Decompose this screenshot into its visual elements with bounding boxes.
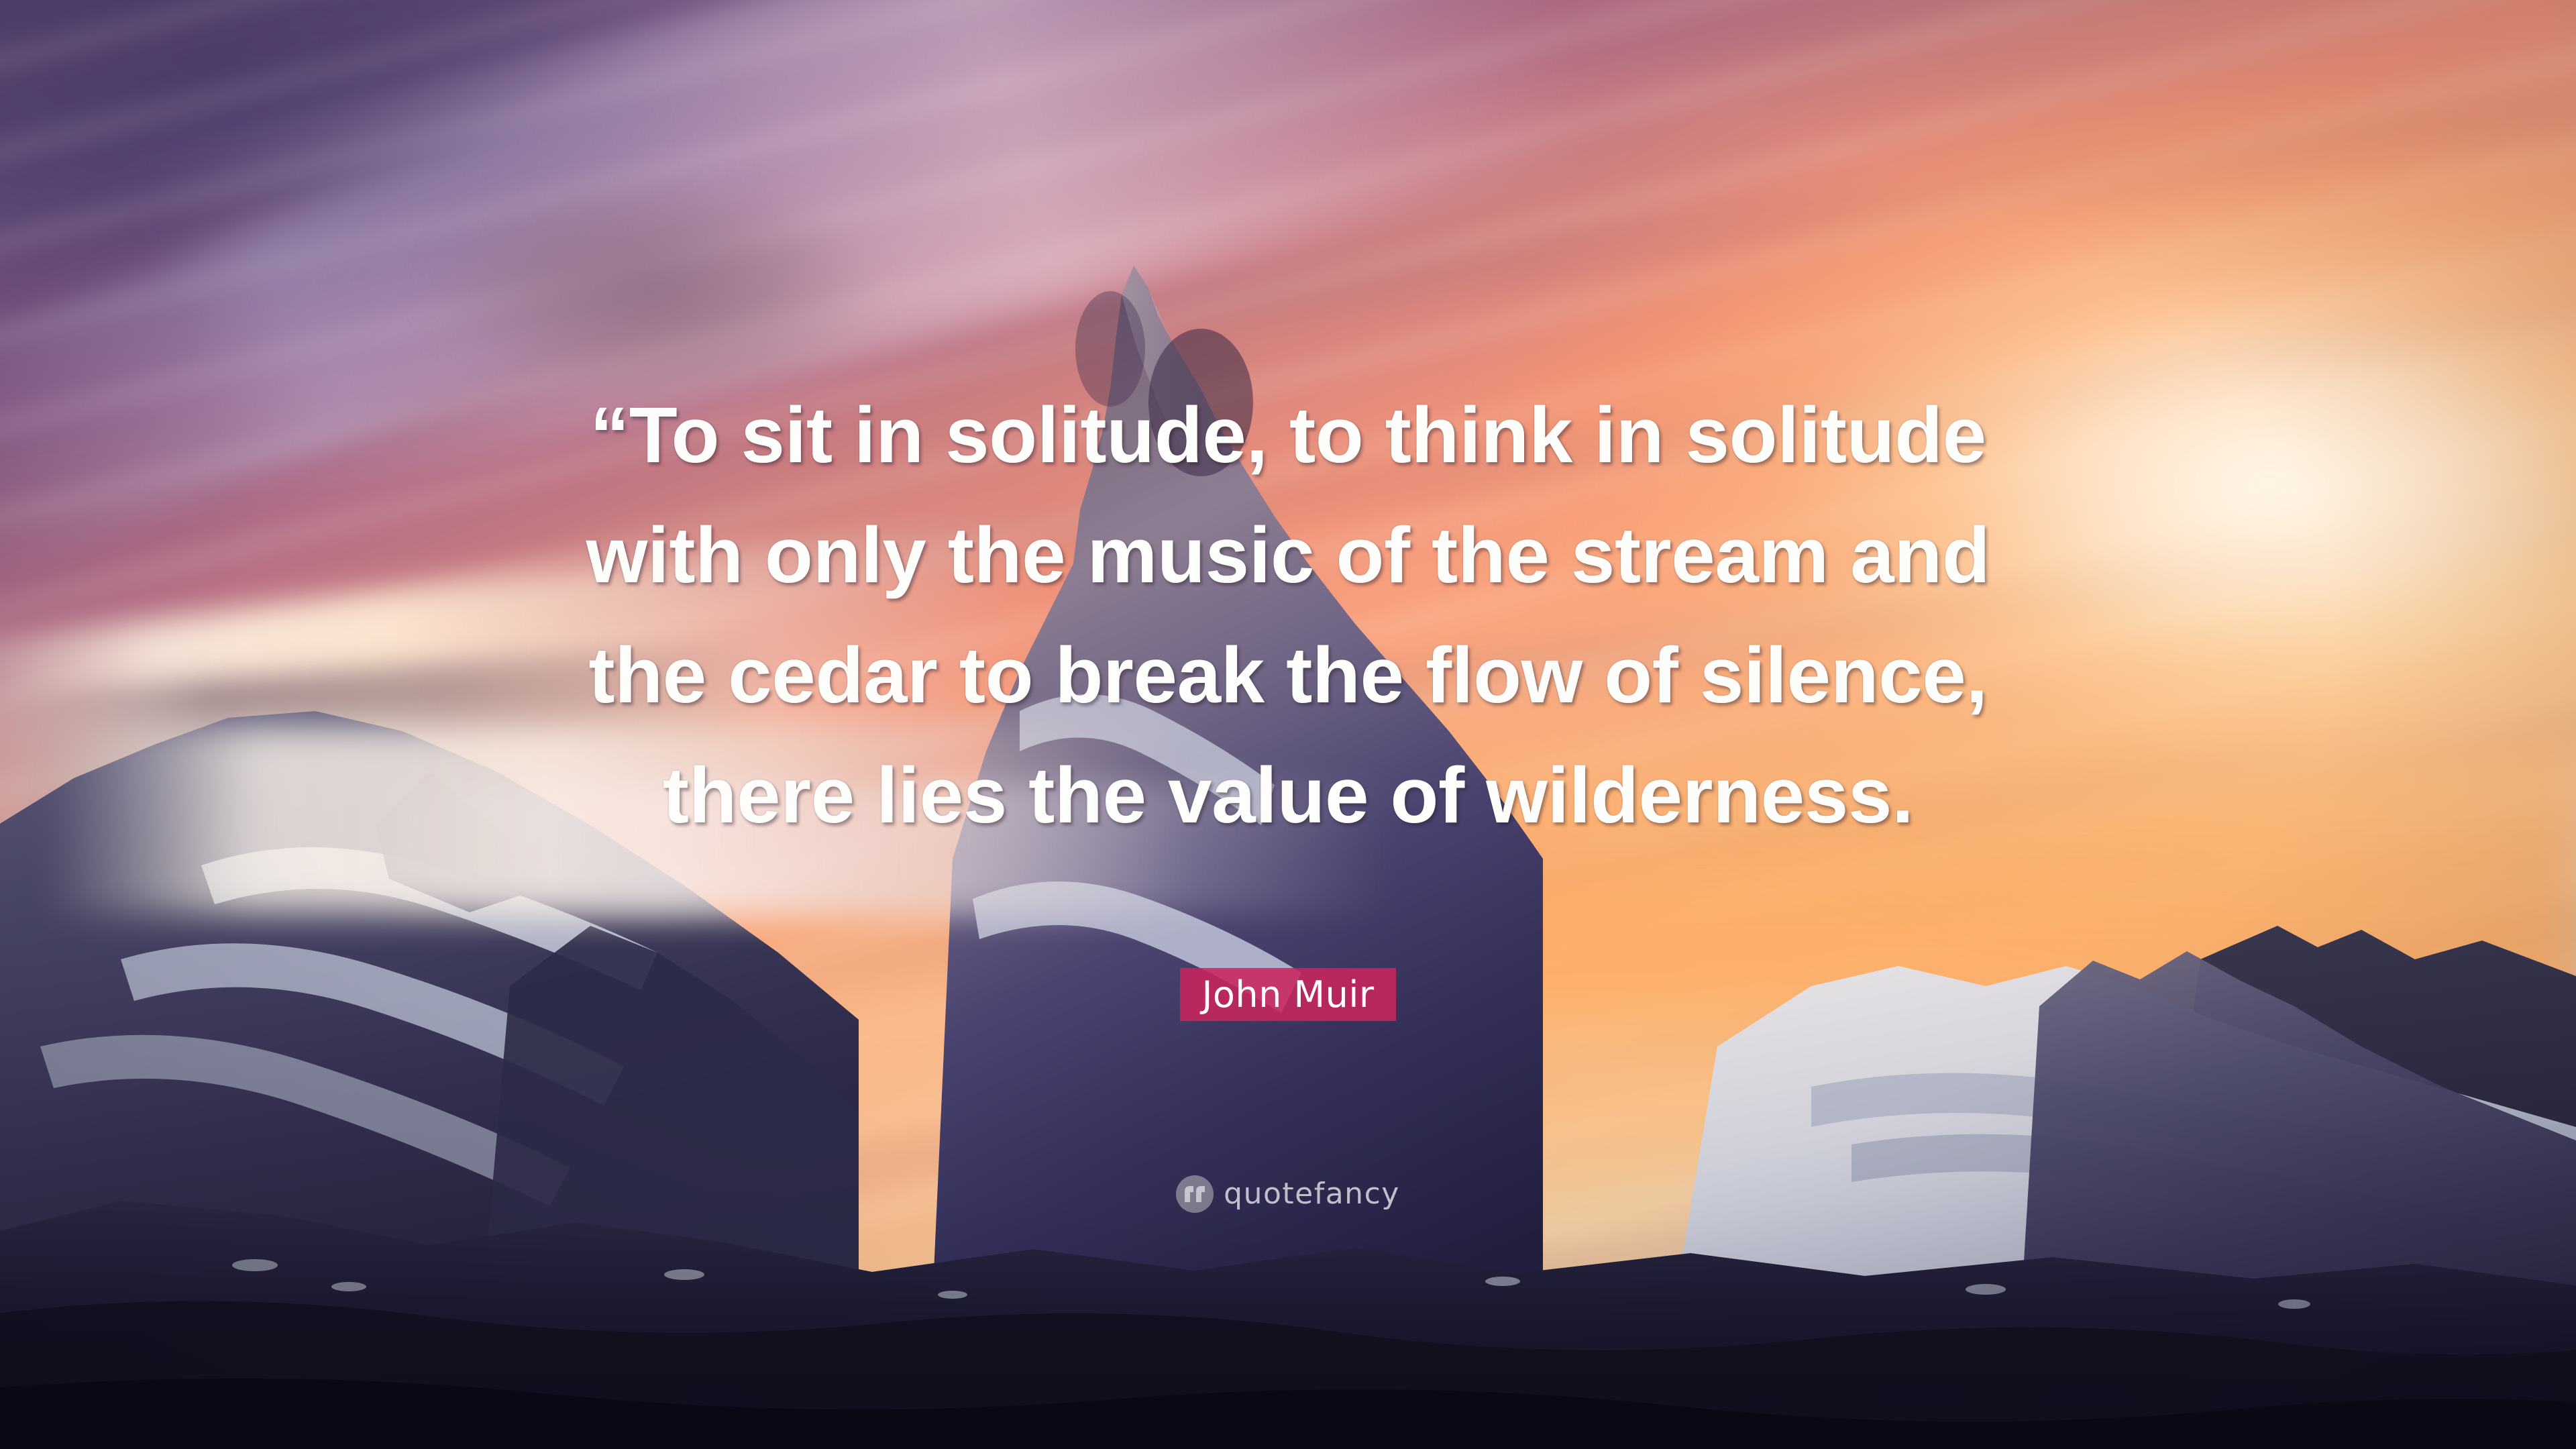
poster-content: “To sit in solitude, to think in solitud… [0, 0, 2576, 1449]
quotefancy-watermark[interactable]: quotefancy [0, 1175, 2576, 1213]
quote-poster: “To sit in solitude, to think in solitud… [0, 0, 2576, 1449]
author-badge: John Muir [1180, 968, 1395, 1021]
quote-text: “To sit in solitude, to think in solitud… [0, 376, 2576, 856]
author-badge-wrapper: John Muir [0, 968, 2576, 1021]
quote-line-3: the cedar to break the flow of silence, [101, 616, 2475, 736]
quote-line-4: there lies the value of wilderness. [101, 736, 2475, 856]
double-quote-icon [1176, 1175, 1214, 1213]
watermark-label: quotefancy [1224, 1179, 1400, 1209]
quote-line-1: “To sit in solitude, to think in solitud… [101, 376, 2475, 496]
quote-line-2: with only the music of the stream and [101, 496, 2475, 616]
